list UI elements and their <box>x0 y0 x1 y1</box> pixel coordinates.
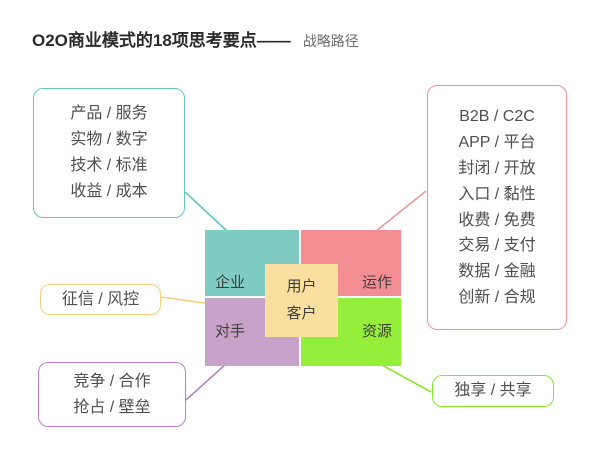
matrix-cell-label: 资源 <box>362 320 392 341</box>
callout-line: 竞争 / 合作 <box>73 369 150 395</box>
callout-line: B2B / C2C <box>459 104 535 130</box>
callout-line: 数据 / 金融 <box>458 259 535 285</box>
callout-line: 征信 / 风控 <box>62 287 139 313</box>
connector-rival <box>186 364 226 400</box>
callout-line: 独享 / 共享 <box>454 378 531 404</box>
callout-line: 封闭 / 开放 <box>458 156 535 182</box>
callout-line: 创新 / 合规 <box>458 285 535 311</box>
matrix-center-label-customer: 客户 <box>286 301 316 327</box>
callout-line: 收益 / 成本 <box>70 179 147 205</box>
callout-line: 入口 / 黏性 <box>458 182 535 208</box>
resource-callout[interactable]: 独享 / 共享 <box>432 375 554 407</box>
rival-callout[interactable]: 竞争 / 合作 抢占 / 壁垒 <box>38 362 186 427</box>
connector-product <box>185 192 227 231</box>
callout-line: 抢占 / 壁垒 <box>73 395 150 421</box>
matrix-cell-user[interactable]: 用户 客户 <box>265 264 338 337</box>
matrix-cell-label: 对手 <box>215 320 245 341</box>
matrix-cell-label: 运作 <box>362 271 392 292</box>
diagram-canvas: O2O商业模式的18项思考要点—— 战略路径 产品 / 服务 实物 / 数字 技… <box>0 0 600 470</box>
matrix-cell-label: 企业 <box>215 271 245 292</box>
callout-line: 收费 / 免费 <box>458 208 535 234</box>
connector-resource <box>380 364 431 392</box>
credit-callout[interactable]: 征信 / 风控 <box>40 284 161 315</box>
product-callout[interactable]: 产品 / 服务 实物 / 数字 技术 / 标准 收益 / 成本 <box>33 88 185 218</box>
center-matrix: 企业 运作 对手 资源 用户 客户 <box>205 230 401 366</box>
matrix-center-label-user: 用户 <box>286 274 316 300</box>
callout-line: 技术 / 标准 <box>70 153 147 179</box>
connector-operation <box>376 191 426 231</box>
callout-line: APP / 平台 <box>458 130 535 156</box>
operation-callout[interactable]: B2B / C2C APP / 平台 封闭 / 开放 入口 / 黏性 收费 / … <box>427 85 567 330</box>
callout-line: 交易 / 支付 <box>458 233 535 259</box>
callout-line: 实物 / 数字 <box>70 127 147 153</box>
callout-line: 产品 / 服务 <box>70 101 147 127</box>
